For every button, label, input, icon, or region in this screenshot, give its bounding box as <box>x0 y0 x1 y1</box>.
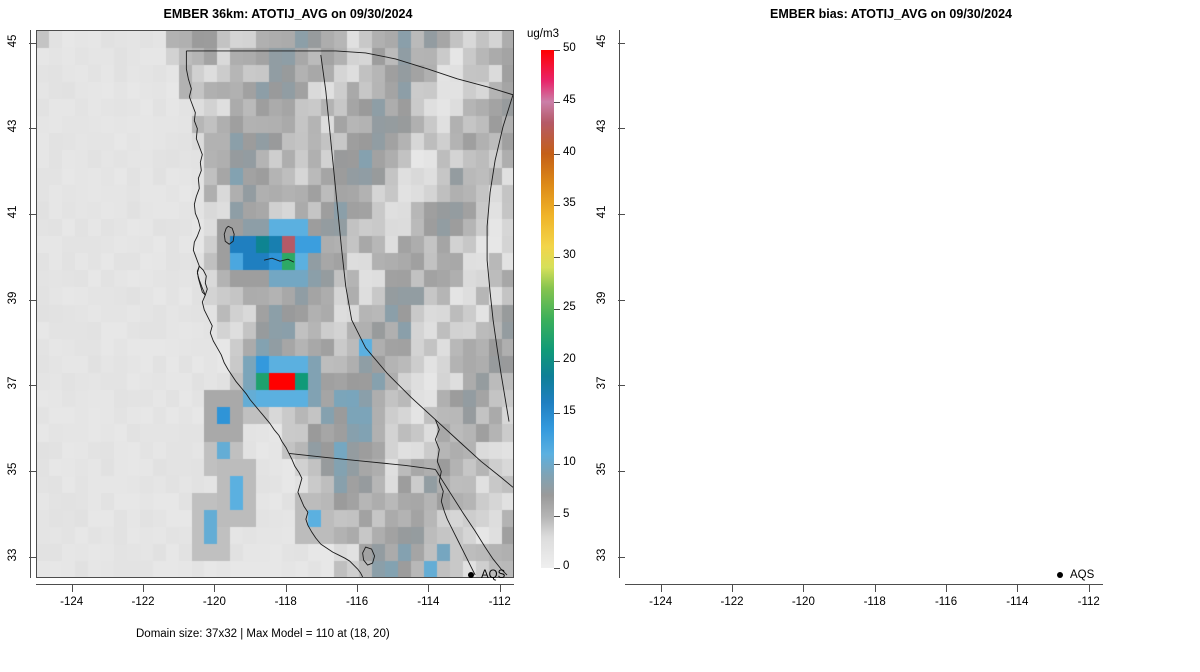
x-tick-label: -122 <box>123 596 163 608</box>
right-x-axis <box>625 584 1103 585</box>
y-tick <box>29 300 36 301</box>
x-tick-label: -118 <box>266 596 306 608</box>
x-tick-label: -116 <box>926 596 966 608</box>
colorbar-tick <box>554 205 560 206</box>
x-tick <box>803 585 804 592</box>
panel-bias: EMBER bias: ATOTIJ_AVG on 09/30/2024 333… <box>600 0 1200 672</box>
y-tick <box>618 128 625 129</box>
colorbar-tick-label: 15 <box>563 405 576 417</box>
colorbar-tick <box>554 102 560 103</box>
y-tick <box>618 300 625 301</box>
x-tick-label: -120 <box>783 596 823 608</box>
colorbar-tick-label: 0 <box>563 560 569 572</box>
y-tick-label: 33 <box>596 540 608 570</box>
y-tick-label: 35 <box>7 454 19 484</box>
y-tick <box>618 214 625 215</box>
y-tick <box>618 43 625 44</box>
x-tick <box>500 585 501 592</box>
y-tick-label: 45 <box>7 26 19 56</box>
y-tick-label: 33 <box>7 540 19 570</box>
x-tick <box>946 585 947 592</box>
colorbar-tick-label: 45 <box>563 94 576 106</box>
x-tick <box>143 585 144 592</box>
y-tick <box>29 128 36 129</box>
right-panel-title: EMBER bias: ATOTIJ_AVG on 09/30/2024 <box>600 7 1200 21</box>
map-outlines-left <box>37 31 513 577</box>
colorbar-tick <box>554 568 560 569</box>
y-tick <box>618 557 625 558</box>
y-tick <box>618 471 625 472</box>
left-caption: Domain size: 37x32 | Max Model = 110 at … <box>136 628 390 640</box>
left-panel-title: EMBER 36km: ATOTIJ_AVG on 09/30/2024 <box>0 7 600 21</box>
colorbar-tick-label: 50 <box>563 42 576 54</box>
x-tick-label: -124 <box>641 596 681 608</box>
x-tick-label: -120 <box>194 596 234 608</box>
y-tick-label: 43 <box>596 111 608 141</box>
colorbar-title: ug/m3 <box>527 28 559 40</box>
panel-model: EMBER 36km: ATOTIJ_AVG on 09/30/2024 <box>0 0 600 672</box>
colorbar-tick <box>554 154 560 155</box>
aqs-label-left: AQS <box>481 569 505 581</box>
y-tick <box>29 557 36 558</box>
y-tick <box>29 214 36 215</box>
x-tick <box>286 585 287 592</box>
left-y-axis <box>30 30 31 578</box>
y-tick-label: 43 <box>7 111 19 141</box>
x-tick-label: -124 <box>52 596 92 608</box>
y-tick-label: 41 <box>7 197 19 227</box>
aqs-marker-right <box>1057 572 1063 578</box>
colorbar-tick-label: 25 <box>563 301 576 313</box>
colorbar-tick <box>554 413 560 414</box>
aqs-marker-left <box>468 572 474 578</box>
y-tick-label: 37 <box>7 368 19 398</box>
x-tick <box>72 585 73 592</box>
colorbar-tick-label: 35 <box>563 197 576 209</box>
colorbar-tick <box>554 50 560 51</box>
colorbar-tick-label: 5 <box>563 508 569 520</box>
left-x-axis <box>36 584 514 585</box>
y-tick <box>29 471 36 472</box>
x-tick-label: -112 <box>1069 596 1109 608</box>
colorbar-tick-label: 30 <box>563 249 576 261</box>
y-tick-label: 41 <box>596 197 608 227</box>
colorbar-tick <box>554 257 560 258</box>
y-tick <box>29 43 36 44</box>
x-tick <box>428 585 429 592</box>
y-tick <box>618 385 625 386</box>
x-tick <box>1089 585 1090 592</box>
x-tick <box>661 585 662 592</box>
x-tick-label: -114 <box>408 596 448 608</box>
colorbar-tick-label: 20 <box>563 353 576 365</box>
y-tick-label: 37 <box>596 368 608 398</box>
x-tick-label: -112 <box>480 596 520 608</box>
right-y-axis <box>619 30 620 578</box>
x-tick <box>357 585 358 592</box>
y-tick <box>29 385 36 386</box>
aqs-label-right: AQS <box>1070 569 1094 581</box>
colorbar-tick <box>554 516 560 517</box>
y-tick-label: 39 <box>7 283 19 313</box>
x-tick <box>214 585 215 592</box>
colorbar-tick-label: 10 <box>563 456 576 468</box>
colorbar-tick <box>554 464 560 465</box>
model-map-plot <box>36 30 514 578</box>
y-tick-label: 35 <box>596 454 608 484</box>
colorbar-tick-label: 40 <box>563 146 576 158</box>
x-tick-label: -118 <box>855 596 895 608</box>
colorbar-tick <box>554 309 560 310</box>
colorbar-tick <box>554 361 560 362</box>
y-tick-label: 45 <box>596 26 608 56</box>
x-tick-label: -114 <box>997 596 1037 608</box>
x-tick <box>875 585 876 592</box>
x-tick <box>732 585 733 592</box>
y-tick-label: 39 <box>596 283 608 313</box>
x-tick <box>1017 585 1018 592</box>
colorbar-gradient <box>541 50 554 568</box>
x-tick-label: -116 <box>337 596 377 608</box>
x-tick-label: -122 <box>712 596 752 608</box>
